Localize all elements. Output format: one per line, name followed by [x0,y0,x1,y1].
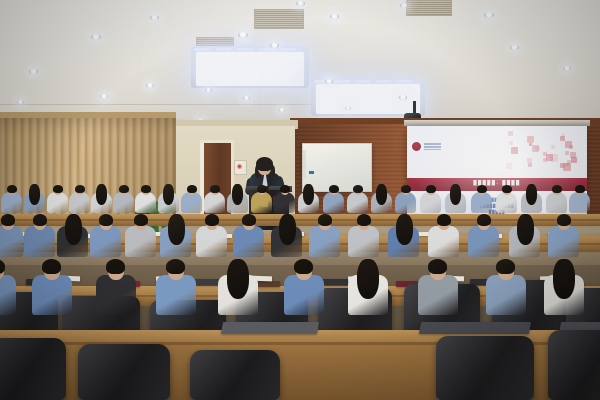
attendee-hair [553,259,575,299]
attendee-hair [477,214,491,226]
light-tube [376,80,391,83]
attendee-hair [257,185,267,193]
attendee-hair [232,184,243,205]
attendee-torso [125,226,156,257]
attendee-hair [134,214,148,226]
attendee-hair [401,185,411,193]
attendee-hair [575,185,585,193]
ceiling-air-vent [254,9,304,29]
desk-folder [419,322,531,334]
attendee-torso [323,192,344,213]
light-tube [216,48,231,51]
attendee-hair [99,214,113,226]
light-tube [194,48,209,51]
light-tube [280,48,295,51]
attendee-hair [552,185,562,193]
attendee-hair [428,259,447,274]
attendee-torso [113,192,134,213]
attendee-hair [502,185,512,193]
chair-back-front [548,330,600,400]
light-tube [335,80,350,83]
attendee-torso [284,275,324,315]
attendee-torso [548,226,579,257]
chair-back-front [436,336,534,400]
attendee-torso [569,192,590,213]
attendee-torso [348,226,379,257]
whiteboard [302,143,372,192]
attendee-hair [294,259,313,274]
ceiling-downlight [563,66,571,71]
attendee-hair [242,214,256,226]
attendee-hair [166,259,185,274]
attendee-hair [106,259,125,274]
attendee-hair [318,214,332,226]
attendee-hair [42,259,61,274]
attendee-hair [357,259,379,299]
attendee-torso [496,192,517,213]
attendee-torso [156,275,196,315]
presenter-hair [256,157,273,171]
attendee-hair [376,184,387,205]
attendee-torso [428,226,459,257]
attendee-hair [396,214,413,245]
ceiling-downlight [345,106,351,110]
ceiling-air-vent [406,0,452,16]
attendee-hair [329,185,339,193]
attendee-torso [546,192,567,213]
attendee-hair [557,214,571,226]
attendee-torso [418,275,458,315]
attendee-torso [274,192,295,213]
attendee-torso [24,226,55,257]
light-tube [237,48,252,51]
attendee-torso [486,275,526,315]
attendee-hair [477,185,487,193]
ceiling-downlight [325,79,333,84]
attendee-hair [496,259,515,274]
ceiling-downlight [91,34,101,40]
attendee-hair [96,184,107,205]
attendee-hair [357,214,371,226]
attendee-torso [233,226,264,257]
attendee-hair [437,214,451,226]
attendee-hair [303,184,314,205]
attendee-hair [7,185,17,193]
ceiling-downlight [399,95,407,100]
attendee-torso [0,226,23,257]
attendee-torso [69,192,90,213]
attendee-torso [309,226,340,257]
attendee-hair [210,185,220,193]
chair-back-front [78,344,170,400]
chair-back-front [0,338,66,400]
no-smoking-icon [236,162,243,171]
chair-back-front [190,350,280,400]
attendee-hair [141,185,151,193]
attendee-hair [29,184,40,205]
microphone-icon [271,176,275,180]
attendee-torso [0,275,16,315]
attendee-torso [204,192,225,213]
attendee-torso [32,275,72,315]
ceiling-downlight [146,83,154,88]
attendee-torso [96,275,136,315]
attendee-hair [53,185,63,193]
attendee-hair [119,185,129,193]
attendee-torso [90,226,121,257]
attendee-hair [75,185,85,193]
attendee-torso [181,192,202,213]
ceiling-panel-light [196,52,304,86]
attendee-hair [168,214,185,245]
attendee-torso [347,192,368,213]
attendee-hair [279,214,296,245]
whiteboard-rail [303,150,306,178]
attendee-torso [196,226,227,257]
ceiling-downlight [238,32,248,38]
light-tube [356,80,371,83]
attendee-torso [251,192,272,213]
attendee-hair [526,184,537,205]
ceiling-downlight [484,12,494,18]
ceiling-downlight [100,94,108,99]
conference-room-photo: █████、████ ██████ ███ █████ █████ █████ [0,0,600,400]
light-tube [397,80,412,83]
attendee-torso [395,192,416,213]
attendee-torso [135,192,156,213]
attendee-hair [450,184,461,205]
whiteboard-marker [309,171,314,174]
desk-front [0,221,600,226]
attendee-hair [187,185,197,193]
attendee-hair [65,214,82,245]
attendee-hair [280,185,290,193]
ceiling-downlight [400,3,408,8]
attendee-hair [163,184,174,205]
attendee-torso [420,192,441,213]
attendee-hair [1,214,15,226]
attendee-hair [33,214,47,226]
light-tube [259,48,274,51]
desk-folder [221,322,319,334]
attendee-torso [468,226,499,257]
attendee-hair [517,214,534,245]
attendee-torso [47,192,68,213]
attendee-torso [471,192,492,213]
attendee-torso [1,192,22,213]
attendee-hair [426,185,436,193]
ceiling-downlight [279,108,285,112]
attendee-hair [205,214,219,226]
attendee-hair [353,185,363,193]
attendee-hair [227,259,249,299]
